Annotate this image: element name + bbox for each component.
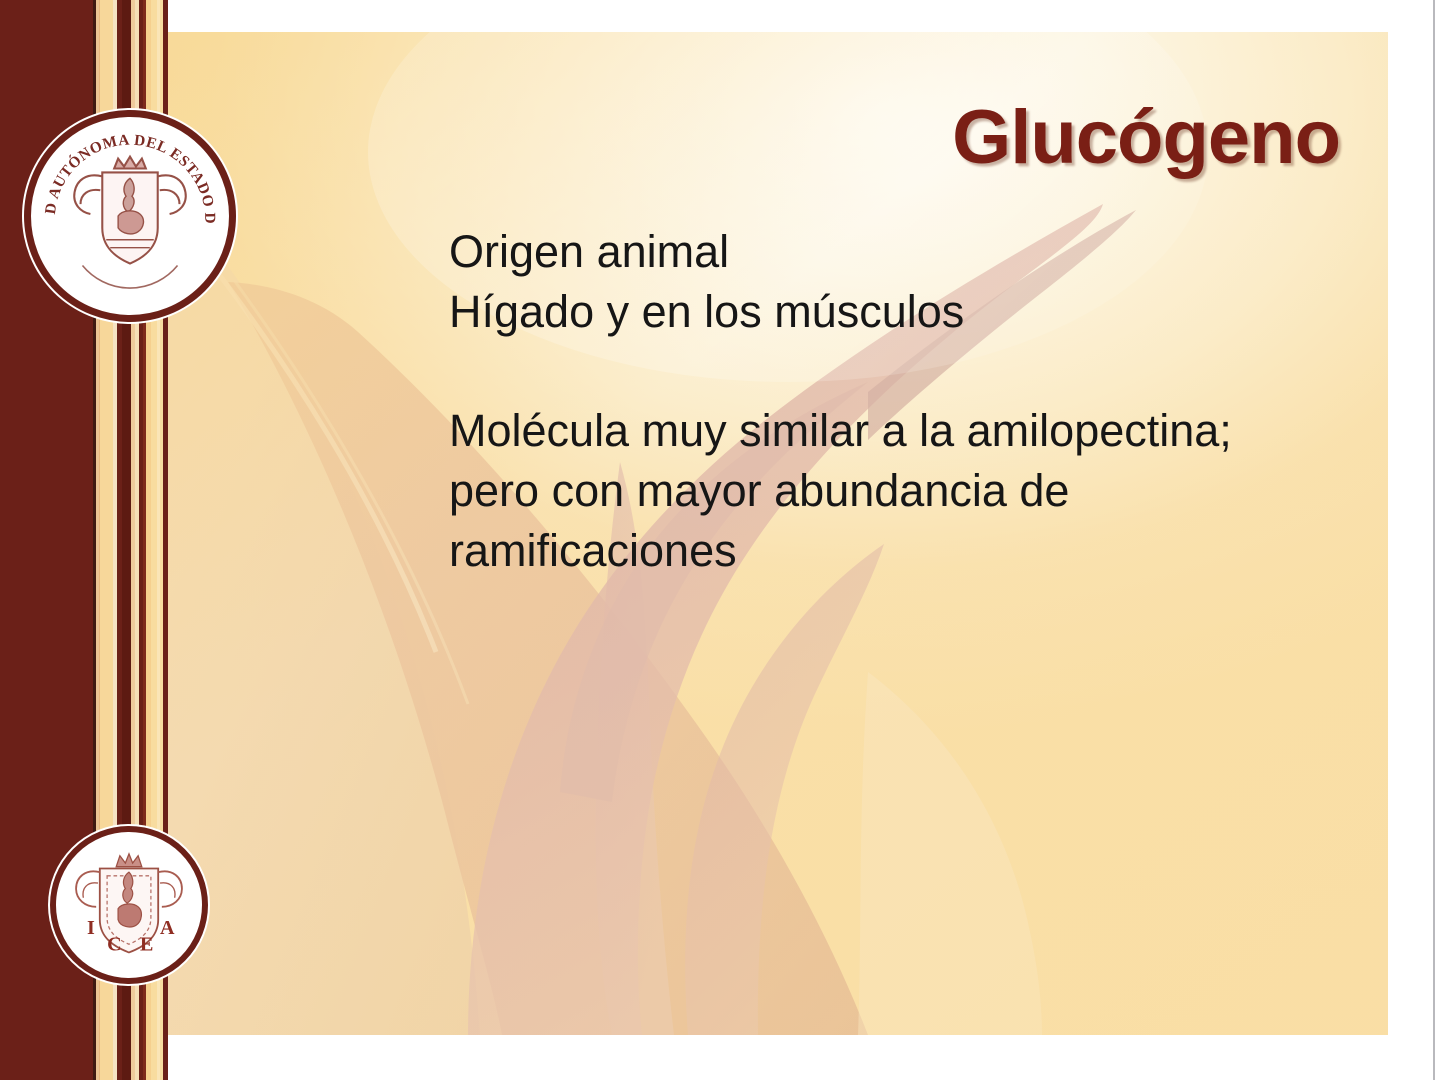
uaeh-seal-graphic: UNIVERSIDAD AUTÓNOMA DEL ESTADO DE HIDAL… (31, 117, 229, 315)
right-edge-white-margin (1435, 0, 1440, 1080)
uaeh-seal: UNIVERSIDAD AUTÓNOMA DEL ESTADO DE HIDAL… (24, 110, 236, 322)
icea-seal-graphic: I C E A (56, 832, 202, 978)
icea-letter-e: E (140, 934, 153, 956)
icea-letter-c: C (107, 934, 122, 956)
body-line-higado: Hígado y en los músculos (449, 282, 1388, 342)
icea-letter-i: I (87, 917, 95, 939)
icea-letter-a: A (160, 917, 175, 939)
icea-seal: I C E A (50, 826, 208, 984)
paragraph-gap (449, 343, 1388, 401)
slide-canvas: Glucógeno Origen animal Hígado y en los … (0, 0, 1440, 1080)
body-line-origen: Origen animal (449, 222, 1388, 282)
slide-content-panel: Glucógeno Origen animal Hígado y en los … (168, 32, 1388, 1035)
decor-cream-lobe (858, 672, 1042, 1035)
page-title: Glucógeno (952, 100, 1340, 176)
slide-body-text: Origen animal Hígado y en los músculos M… (449, 222, 1388, 581)
body-line-pero: pero con mayor abundancia de (449, 461, 1388, 521)
body-line-ramificaciones: ramificaciones (449, 521, 1388, 581)
body-line-molecula: Molécula muy similar a la amilopectina; (449, 401, 1388, 461)
